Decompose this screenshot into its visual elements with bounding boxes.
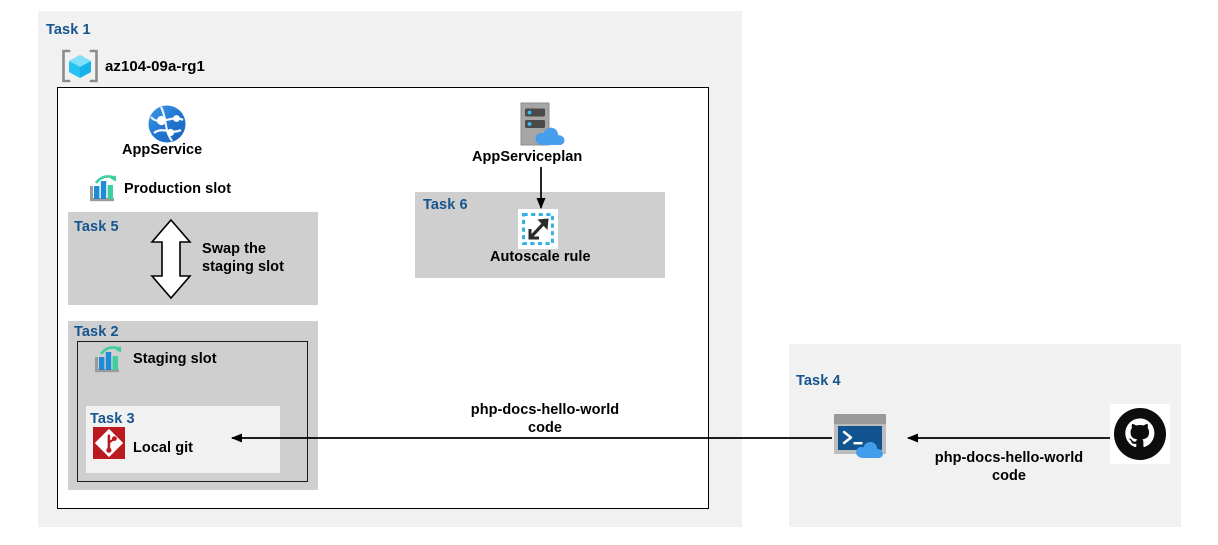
task4-label: Task 4 [796, 373, 841, 389]
task5-text: Swap the staging slot [202, 240, 312, 276]
task5-label: Task 5 [74, 219, 119, 235]
github-icon [1110, 404, 1170, 464]
deployment-slot-icon-staging [92, 345, 124, 375]
autoscale-rule-icon [518, 209, 558, 249]
appservice-label: AppService [122, 142, 202, 158]
diagram-canvas: Task 1 az104-09a-rg1 [0, 0, 1218, 545]
cloud-shell-icon [832, 412, 898, 460]
task1-label: Task 1 [46, 22, 91, 38]
autoscale-rule-label: Autoscale rule [490, 249, 591, 265]
resource-group-icon [60, 48, 100, 84]
app-service-plan-icon [510, 101, 572, 149]
center-arrow-label: php-docs-hello-world code [455, 401, 635, 437]
git-icon [93, 427, 125, 459]
deployment-slot-icon-production [87, 174, 119, 204]
resource-group-name: az104-09a-rg1 [105, 58, 205, 75]
swap-updown-arrow-icon [148, 218, 194, 300]
task2-label: Task 2 [74, 324, 119, 340]
staging-slot-label: Staging slot [133, 351, 217, 367]
appserviceplan-label: AppServiceplan [472, 149, 582, 165]
task4-code-label: php-docs-hello-world code [925, 449, 1093, 485]
local-git-label: Local git [133, 440, 193, 456]
app-service-icon [147, 104, 187, 144]
production-slot-label: Production slot [124, 181, 231, 197]
task3-label: Task 3 [90, 411, 135, 427]
task6-label: Task 6 [423, 197, 468, 213]
